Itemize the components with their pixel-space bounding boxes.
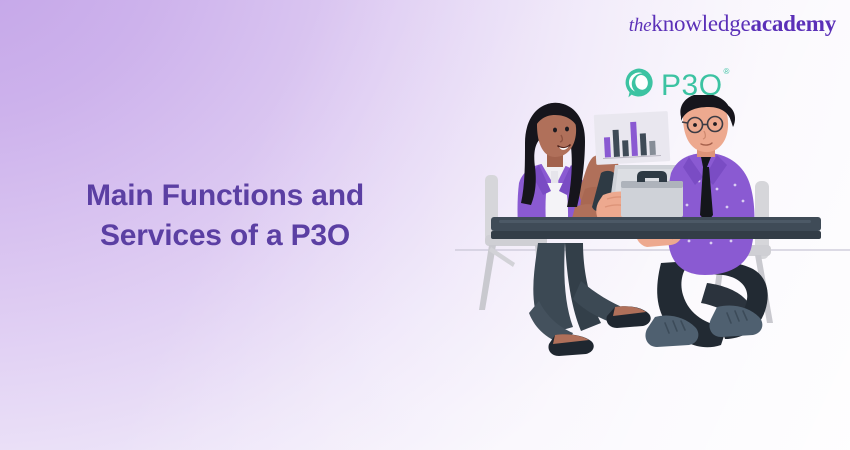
- brand-logo-academy: academy: [751, 11, 836, 36]
- chart-bar: [622, 140, 629, 156]
- page-title: Main Functions and Services of a P3O: [16, 176, 434, 256]
- desk: [491, 217, 821, 239]
- paper-with-bar-chart: [594, 111, 671, 165]
- chart-bar: [640, 133, 647, 155]
- two-colleagues-at-desk-illustration: [455, 95, 850, 395]
- brand-logo-knowledge: knowledge: [651, 11, 750, 36]
- brand-logo-the: the: [629, 15, 652, 36]
- page-title-line-2: Services of a P3O: [16, 216, 434, 256]
- chart-bar: [604, 137, 611, 157]
- page-title-line-1: Main Functions and: [16, 176, 434, 216]
- p3o-registered-mark: ®: [724, 67, 730, 76]
- chart-bar: [649, 141, 656, 155]
- brand-logo[interactable]: theknowledgeacademy: [629, 12, 836, 35]
- banner-root: theknowledgeacademy P3O® Main Functions …: [0, 0, 850, 450]
